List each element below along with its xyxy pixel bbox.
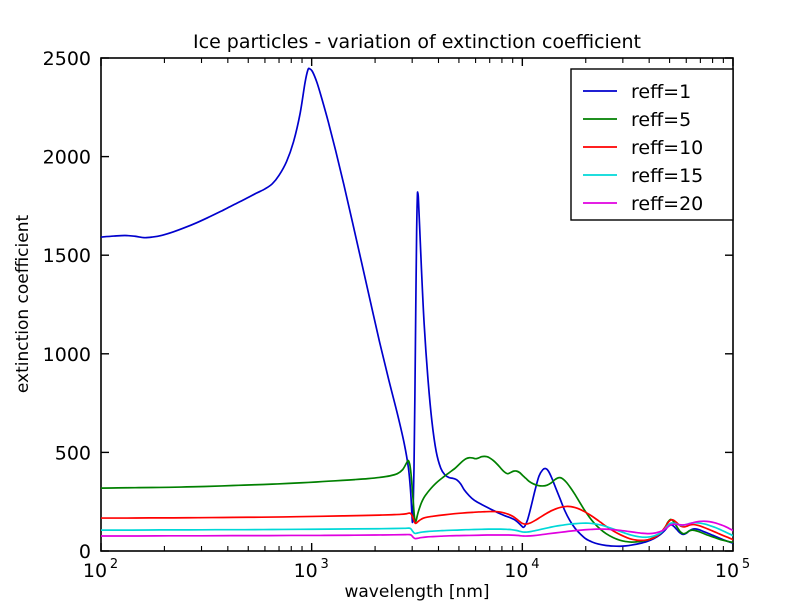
- y-tick-label: 2000: [43, 147, 91, 169]
- chart-title: Ice particles - variation of extinction …: [193, 31, 641, 53]
- y-tick-label: 500: [55, 442, 91, 464]
- x-tick-exponent: 4: [531, 557, 539, 572]
- y-tick-label: 1500: [43, 245, 91, 267]
- x-tick-mantissa: 10: [504, 560, 528, 582]
- x-axis-label: wavelength [nm]: [344, 582, 489, 602]
- figure-canvas: Ice particles - variation of extinction …: [0, 0, 812, 612]
- y-axis-label: extinction coefficient: [13, 215, 33, 394]
- legend-label: reff=10: [631, 137, 703, 159]
- x-tick-mantissa: 10: [294, 560, 318, 582]
- x-tick-mantissa: 10: [83, 560, 107, 582]
- legend-label: reff=20: [631, 193, 703, 215]
- y-tick-label: 0: [79, 541, 91, 563]
- legend-label: reff=5: [631, 109, 691, 131]
- y-tick-label: 1000: [43, 344, 91, 366]
- extinction-coefficient-chart: Ice particles - variation of extinction …: [0, 0, 812, 612]
- x-tick-mantissa: 10: [715, 560, 739, 582]
- y-tick-label: 2500: [43, 48, 91, 70]
- legend-label: reff=15: [631, 165, 703, 187]
- chart-legend: reff=1reff=5reff=10reff=15reff=20: [571, 69, 733, 220]
- legend-label: reff=1: [631, 81, 691, 103]
- x-tick-exponent: 3: [321, 557, 329, 572]
- x-tick-exponent: 2: [110, 557, 118, 572]
- x-tick-exponent: 5: [742, 557, 750, 572]
